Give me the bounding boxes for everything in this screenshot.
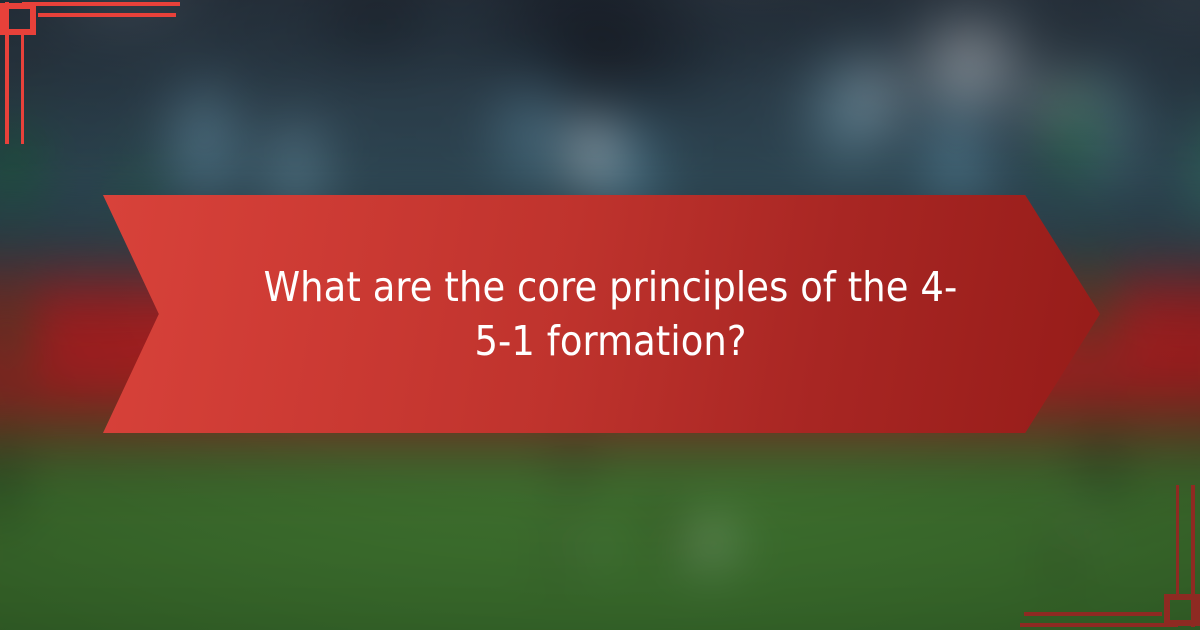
ornament-bar	[21, 34, 24, 144]
ornament-bar	[22, 2, 180, 6]
ornament-bar	[5, 32, 9, 144]
headline-banner: What are the core principles of the 4-5-…	[103, 195, 1100, 433]
ornament-bar	[1024, 612, 1162, 616]
question-card: What are the core principles of the 4-5-…	[0, 0, 1200, 630]
ornament-bar	[38, 13, 176, 17]
ornament-bar	[1176, 485, 1179, 595]
ornament-bar	[1020, 623, 1178, 627]
corner-bracket-top-left	[0, 0, 200, 170]
ornament-bar	[1191, 485, 1195, 597]
headline-text: What are the core principles of the 4-5-…	[251, 260, 971, 368]
corner-bracket-bottom-right	[1000, 460, 1200, 630]
